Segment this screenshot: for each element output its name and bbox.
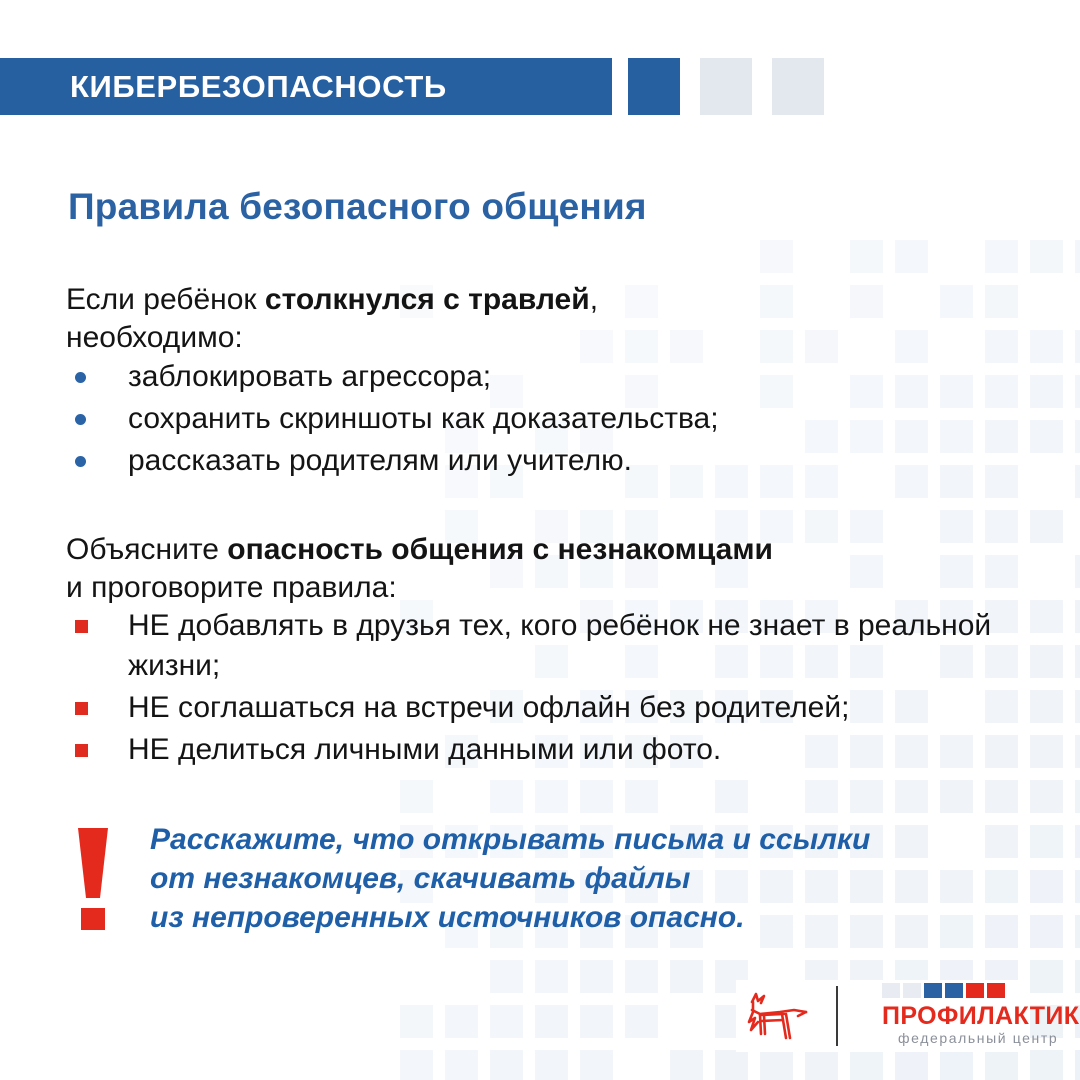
stranger-rules-list: НЕ добавлять в друзья тех, кого ребёнок … bbox=[66, 606, 1080, 772]
lead-emphasis: опасность общения с незнакомцами bbox=[227, 533, 773, 566]
logo-swatch-6 bbox=[987, 983, 1005, 998]
lead-emphasis: столкнулся с травлей bbox=[265, 283, 590, 316]
bullet-square-icon bbox=[75, 702, 88, 715]
section-bullying-lead: Если ребёнок столкнулся с травлей, необх… bbox=[66, 281, 598, 357]
callout-line-3: из непроверенных источников опасно. bbox=[150, 901, 745, 934]
callout-line-1: Расскажите, что открывать письма и ссылк… bbox=[150, 823, 870, 856]
brand-subtitle: федеральный центр bbox=[898, 1030, 1058, 1046]
list-item-text: НЕ делиться личными данными или фото. bbox=[128, 733, 721, 766]
bullying-rules-list: заблокировать агрессора; сохранить скрин… bbox=[66, 357, 719, 483]
list-item: сохранить скриншоты как доказательства; bbox=[66, 399, 719, 439]
list-item: рассказать родителям или учителю. bbox=[66, 441, 719, 481]
list-item-text: НЕ добавлять в друзья тех, кого ребёнок … bbox=[128, 609, 991, 682]
list-item-text: заблокировать агрессора; bbox=[128, 360, 491, 393]
list-item: НЕ добавлять в друзья тех, кого ребёнок … bbox=[66, 606, 1080, 686]
lead-prefix: Если ребёнок bbox=[66, 283, 265, 316]
warning-callout-text: Расскажите, что открывать письма и ссылк… bbox=[150, 820, 870, 937]
bullet-dot-icon bbox=[75, 414, 86, 425]
logo-divider bbox=[836, 986, 838, 1046]
lead-line2: и проговорите правила: bbox=[66, 571, 397, 604]
callout-line-2: от незнакомцев, скачивать файлы bbox=[150, 862, 690, 895]
lead-line2: необходимо: bbox=[66, 321, 243, 354]
logo-swatch-1 bbox=[882, 983, 900, 998]
bullet-dot-icon bbox=[75, 456, 86, 467]
list-item: НЕ делиться личными данными или фото. bbox=[66, 730, 1080, 770]
footer-logo-lockup: ПРОФИЛАКТИКА федеральный центр bbox=[736, 980, 1026, 1052]
poster-canvas: КИБЕРБЕЗОПАСНОСТЬ Правила безопасного об… bbox=[0, 0, 1080, 1080]
page-title: Правила безопасного общения bbox=[68, 186, 647, 228]
lead-prefix: Объясните bbox=[66, 533, 227, 566]
list-item-text: рассказать родителям или учителю. bbox=[128, 444, 632, 477]
list-item-text: НЕ соглашаться на встречи офлайн без род… bbox=[128, 691, 849, 724]
logo-swatch-2 bbox=[903, 983, 921, 998]
bullet-square-icon bbox=[75, 744, 88, 757]
logo-swatch-3 bbox=[924, 983, 942, 998]
bullet-square-icon bbox=[75, 620, 88, 633]
logo-swatch-4 bbox=[945, 983, 963, 998]
list-item: НЕ соглашаться на встречи офлайн без род… bbox=[66, 688, 1080, 728]
logo-swatch-5 bbox=[966, 983, 984, 998]
deer-logo-icon bbox=[740, 988, 818, 1046]
bullet-dot-icon bbox=[75, 372, 86, 383]
lead-suffix: , bbox=[590, 283, 598, 316]
list-item: заблокировать агрессора; bbox=[66, 357, 719, 397]
content-area: Правила безопасного общения Если ребёнок… bbox=[0, 0, 1080, 1080]
brand-name: ПРОФИЛАКТИКА bbox=[882, 1002, 1080, 1031]
exclamation-mark-icon bbox=[74, 828, 112, 930]
logo-color-swatches bbox=[882, 983, 1005, 998]
section-strangers-lead: Объясните опасность общения с незнакомца… bbox=[66, 531, 773, 607]
list-item-text: сохранить скриншоты как доказательства; bbox=[128, 402, 719, 435]
